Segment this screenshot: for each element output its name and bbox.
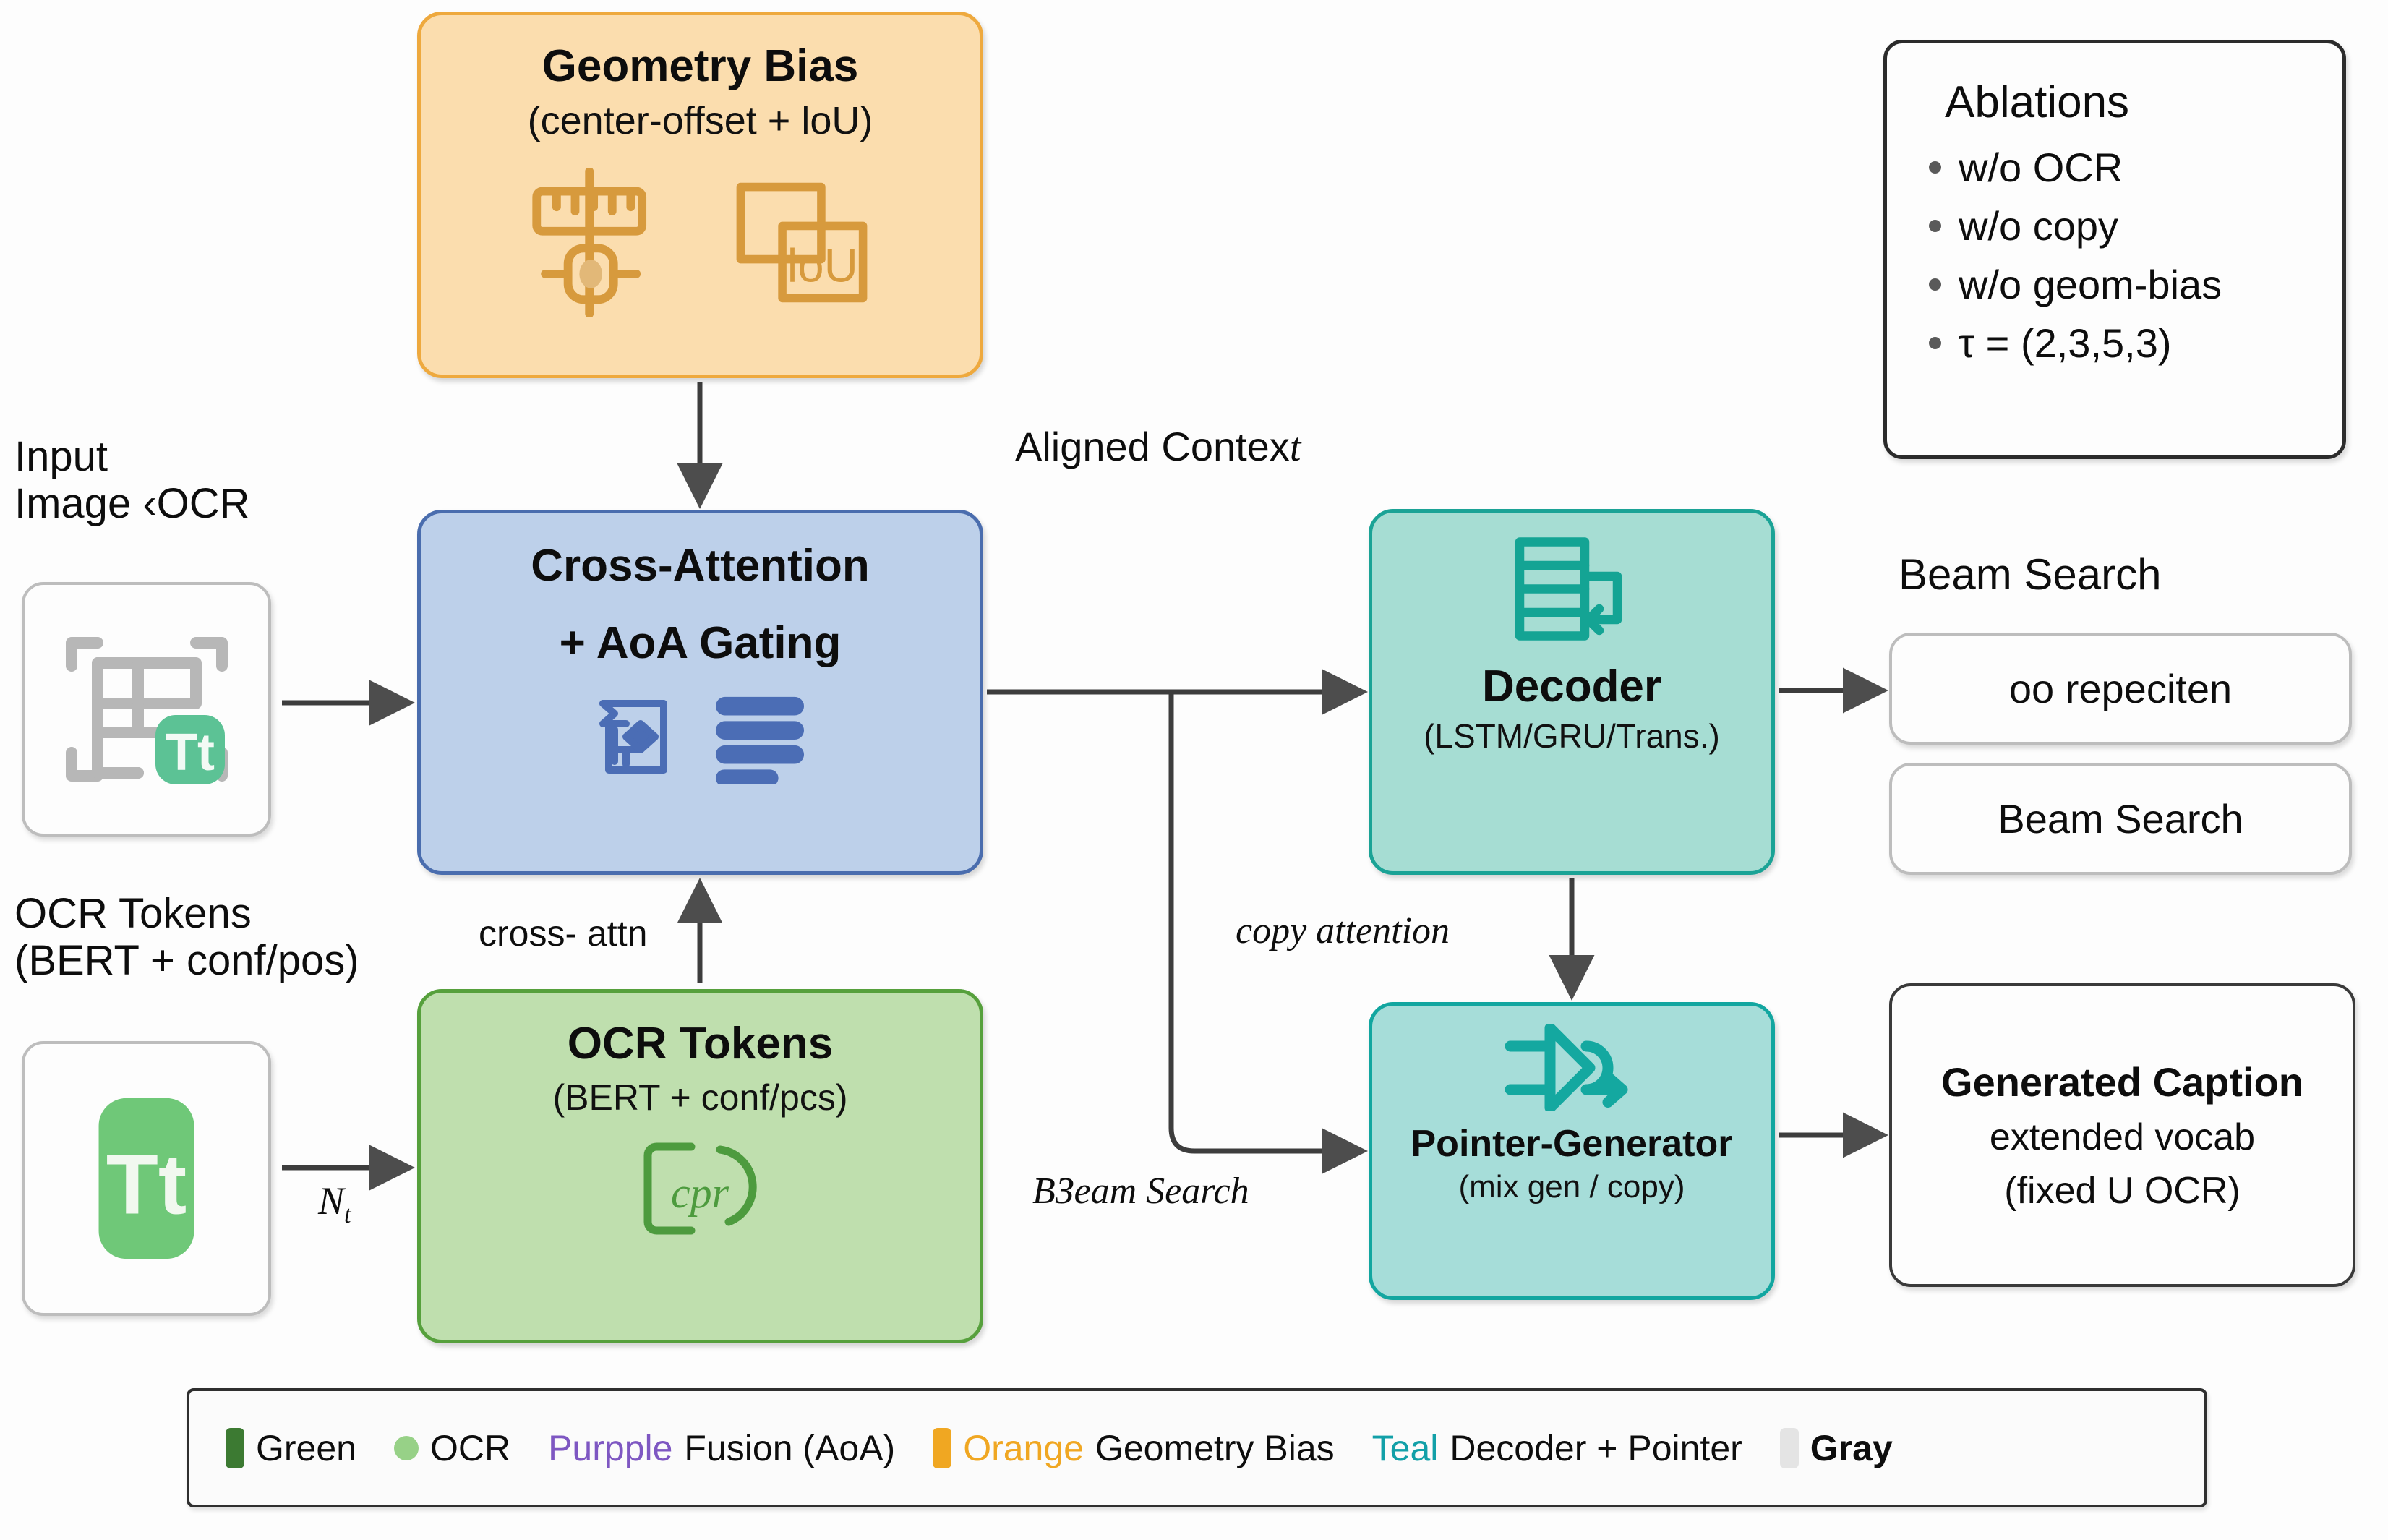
ablations-item-label: w/o copy [1959,202,2118,249]
beam-output-item[interactable]: Beam Search [1889,763,2352,875]
beam-output-text: Beam Search [1998,795,2243,842]
beam-search-heading: Beam Search [1899,549,2162,599]
geometry-bias-title: Geometry Bias [542,41,859,91]
legend-entry-desc: Decoder + Pointer [1450,1427,1742,1469]
bullet-icon [1929,278,1941,291]
svg-text:Tt: Tt [106,1137,187,1233]
geometry-bias-icon-row: loU [527,168,874,317]
legend-entry-teal: Teal Decoder + Pointer [1372,1427,1742,1469]
generated-caption-title: Generated Caption [1941,1058,2303,1105]
image-scan-with-text-icon: Tt [48,611,245,808]
aligned-context-label: Aligned Context [1015,423,1301,471]
decoder-subtitle: (LSTM/GRU/Trans.) [1424,717,1720,756]
decoder-icon-row [1509,533,1635,649]
legend-entry-name: Teal [1372,1427,1439,1469]
input-label-line2: Image ‹OCR [14,481,250,528]
ablations-item-label: w/o geom-bias [1959,261,2222,308]
legend-entry-gray: Gray [1780,1427,1893,1469]
beam-search-edge-label: BЗeam Search [1032,1170,1249,1212]
ocr-thumbnail[interactable]: Tt [22,1041,271,1316]
legend-entry-desc: Geometry Bias [1095,1427,1335,1469]
legend-entry-ocr: OCR [394,1427,510,1469]
n-t-edge-label: Nt [318,1178,351,1229]
attention-matrix-icon [594,692,687,784]
n-t-subscript: t [344,1202,351,1228]
svg-text:loU: loU [787,239,857,291]
beam-output-text: oo repeciten [2009,665,2232,712]
pointer-generator-subtitle: (mix gen / copy) [1459,1169,1685,1206]
ruler-center-offset-icon [527,168,672,317]
legend-entry-name: Purpple [548,1427,672,1469]
token-bars-icon [713,693,807,784]
recurrent-stack-icon [1509,533,1635,649]
ocr-tokens-label-line2: (BERT + conf/pos) [14,938,359,985]
cross-attention-title-line1: Cross-Attention [531,541,869,591]
ablations-item: w/o geom-bias [1929,261,2222,308]
aligned-context-tail: t [1290,425,1301,470]
ablations-item-label: τ = (2,3,5,3) [1959,320,2172,367]
copy-attention-edge-label: copy attention [1236,910,1450,952]
beam-output-item[interactable]: oo repeciten [1889,633,2352,745]
legend-entry-purpple: Purpple Fusion (AoA) [548,1427,895,1469]
diagram-canvas: Geometry Bias (center-offset + loU) loU [0,0,2388,1540]
legend-bar: Green OCR Purpple Fusion (AoA) Orange Ge… [187,1388,2207,1507]
text-tt-icon: Tt [83,1088,210,1269]
cross-attention-icon-row [594,692,807,784]
ocr-tokens-label: OCR Tokens (BERT + conf/pos) [14,891,359,985]
bullet-icon [1929,161,1941,174]
ocr-tokens-node[interactable]: OCR Tokens (BERT + conf/pcs) cpr [417,989,983,1343]
ablations-item: τ = (2,3,5,3) [1929,320,2222,367]
svg-text:cpr: cpr [671,1169,729,1217]
aligned-context-text: Aligned Contex [1015,424,1290,469]
input-label: Input Image ‹OCR [14,434,250,528]
cross-attention-node[interactable]: Cross-Attention + AoA Gating [417,510,983,875]
n-t-symbol: N [318,1179,344,1223]
pointer-generator-icon-row [1503,1024,1640,1111]
legend-swatch-orange-icon [933,1428,951,1468]
pointer-generator-title: Pointer-Generator [1411,1123,1733,1165]
cross-attn-edge-label: cross- attn [479,912,647,954]
ablations-item: w/o copy [1929,202,2222,249]
legend-entry-name: Orange [963,1427,1084,1469]
generated-caption-line2: (fixed U OCR) [2004,1169,2240,1212]
ocr-tokens-icon-row: cpr [639,1138,762,1239]
ablations-title: Ablations [1929,77,2129,128]
ablations-panel: Ablations w/o OCR w/o copy w/o geom-bias… [1883,40,2346,459]
pointer-switch-icon [1503,1024,1640,1111]
ablations-item: w/o OCR [1929,144,2222,191]
pointer-generator-node[interactable]: Pointer-Generator (mix gen / copy) [1369,1002,1775,1300]
geometry-bias-node[interactable]: Geometry Bias (center-offset + loU) loU [417,12,983,378]
cross-attention-title-line2: + AoA Gating [560,618,842,668]
input-thumbnail[interactable]: Tt [22,582,271,837]
generated-caption-panel: Generated Caption extended vocab (fixed … [1889,983,2355,1287]
decoder-node[interactable]: Decoder (LSTM/GRU/Trans.) [1369,509,1775,875]
input-label-line1: Input [14,434,250,481]
decoder-title: Decoder [1482,662,1661,711]
svg-text:Tt: Tt [166,724,215,782]
ocr-tokens-label-line1: OCR Tokens [14,891,359,938]
legend-entry-orange: Orange Geometry Bias [933,1427,1334,1469]
legend-swatch-ocr-icon [394,1436,419,1460]
cpr-loop-icon: cpr [639,1138,762,1239]
legend-entry-name: Green [256,1427,356,1469]
legend-entry-desc: Fusion (AoA) [684,1427,895,1469]
ocr-tokens-title: OCR Tokens [568,1019,833,1069]
ablations-item-label: w/o OCR [1959,144,2123,191]
ocr-tokens-subtitle: (BERT + conf/pcs) [552,1077,847,1119]
geometry-bias-subtitle: (center-offset + loU) [528,98,873,143]
legend-entry-green: Green [226,1427,356,1469]
ablations-list: w/o OCR w/o copy w/o geom-bias τ = (2,3,… [1929,144,2222,378]
generated-caption-line1: extended vocab [1990,1116,2255,1159]
bullet-icon [1929,220,1941,232]
bullet-icon [1929,337,1941,349]
iou-boxes-icon: loU [729,168,874,317]
legend-entry-name: OCR [430,1427,510,1469]
legend-swatch-gray-icon [1780,1428,1799,1468]
legend-swatch-green-icon [226,1428,244,1468]
legend-entry-name: Gray [1810,1427,1893,1469]
